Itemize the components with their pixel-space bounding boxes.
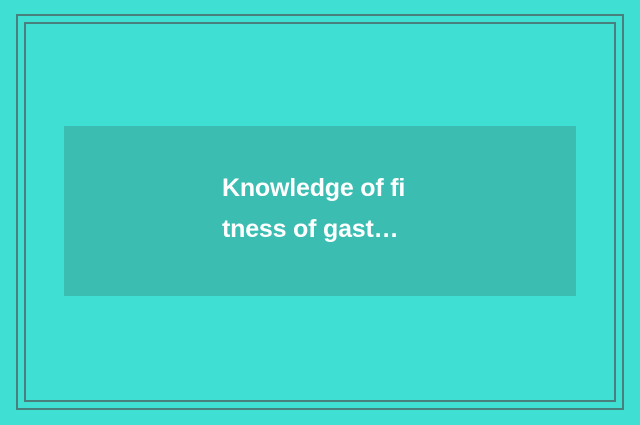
headline-text: Knowledge of fi tness of gast… [222,168,432,250]
slide-canvas: Knowledge of fi tness of gast… [0,0,640,425]
